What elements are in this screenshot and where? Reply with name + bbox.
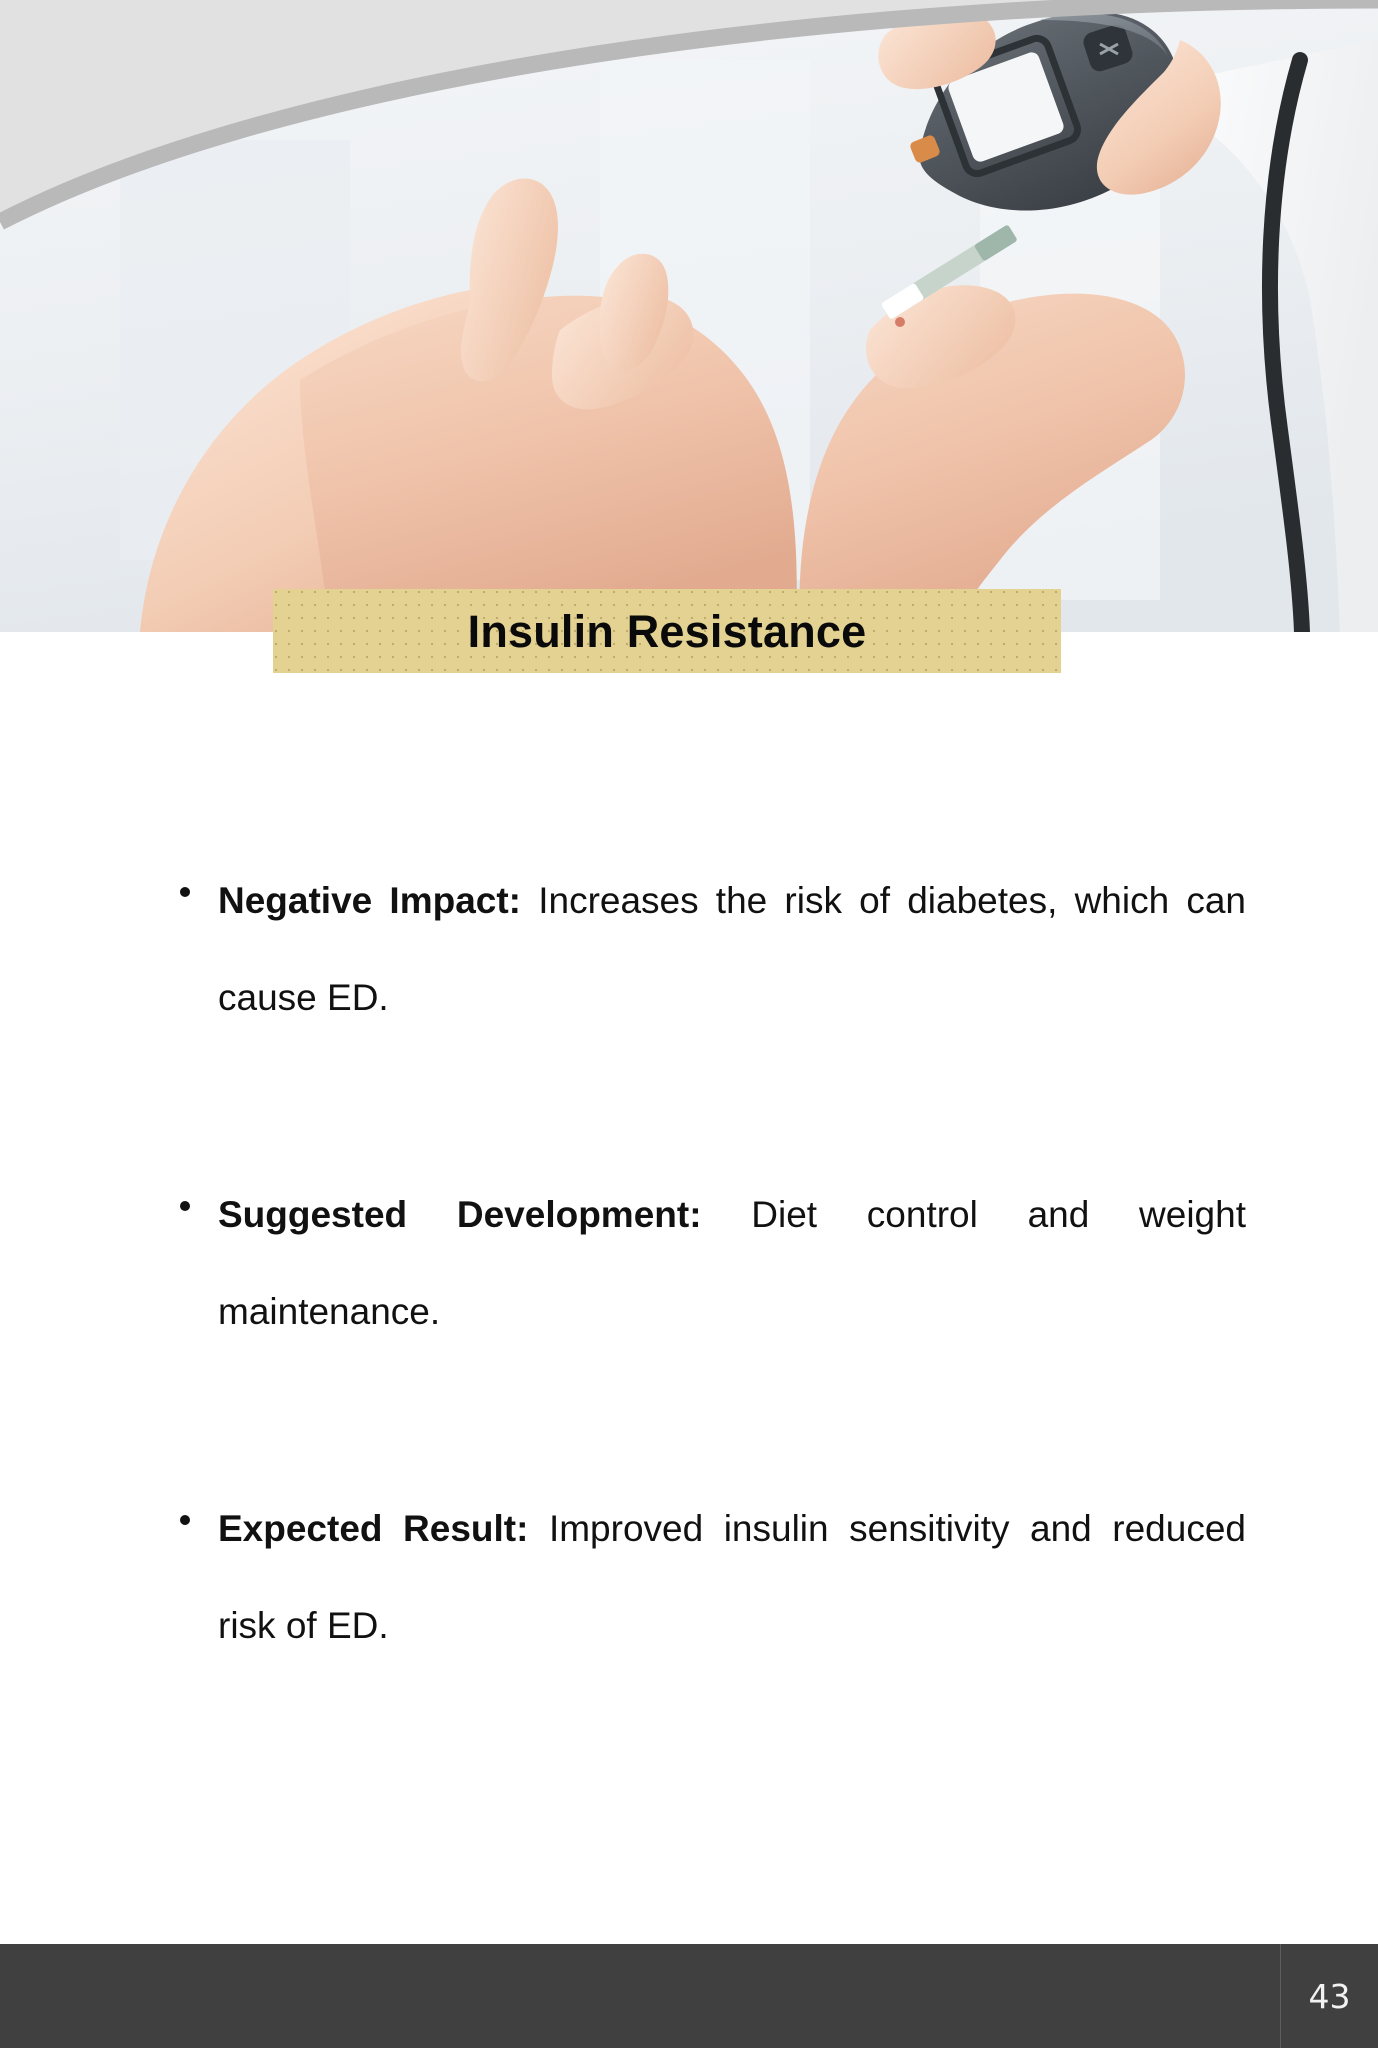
bullet-lead: Negative Impact: <box>218 880 521 921</box>
bullet-paragraph: Suggested Development: Diet control and … <box>218 1166 1246 1360</box>
list-item: Expected Result: Improved insulin sensit… <box>168 1480 1246 1674</box>
bullet-dot-icon <box>180 1515 190 1525</box>
title-banner: Insulin Resistance <box>273 589 1061 673</box>
bullet-lead: Expected Result: <box>218 1508 528 1549</box>
header-image <box>0 0 1378 632</box>
bullet-paragraph: Expected Result: Improved insulin sensit… <box>218 1480 1246 1674</box>
page-title: Insulin Resistance <box>468 609 867 654</box>
list-item: Suggested Development: Diet control and … <box>168 1166 1246 1360</box>
header-image-artwork <box>0 0 1378 632</box>
footer-bar: 43 <box>0 1944 1378 2048</box>
bullet-dot-icon <box>180 887 190 897</box>
bullet-paragraph: Negative Impact: Increases the risk of d… <box>218 852 1246 1046</box>
bullet-lead: Suggested Development: <box>218 1194 702 1235</box>
slide-root: Insulin Resistance Negative Impact: Incr… <box>0 0 1378 2048</box>
bullet-list: Negative Impact: Increases the risk of d… <box>168 852 1246 1674</box>
bullet-dot-icon <box>180 1201 190 1211</box>
blood-droplet <box>895 317 905 327</box>
list-item: Negative Impact: Increases the risk of d… <box>168 852 1246 1046</box>
page-number: 43 <box>1281 1944 1378 2048</box>
